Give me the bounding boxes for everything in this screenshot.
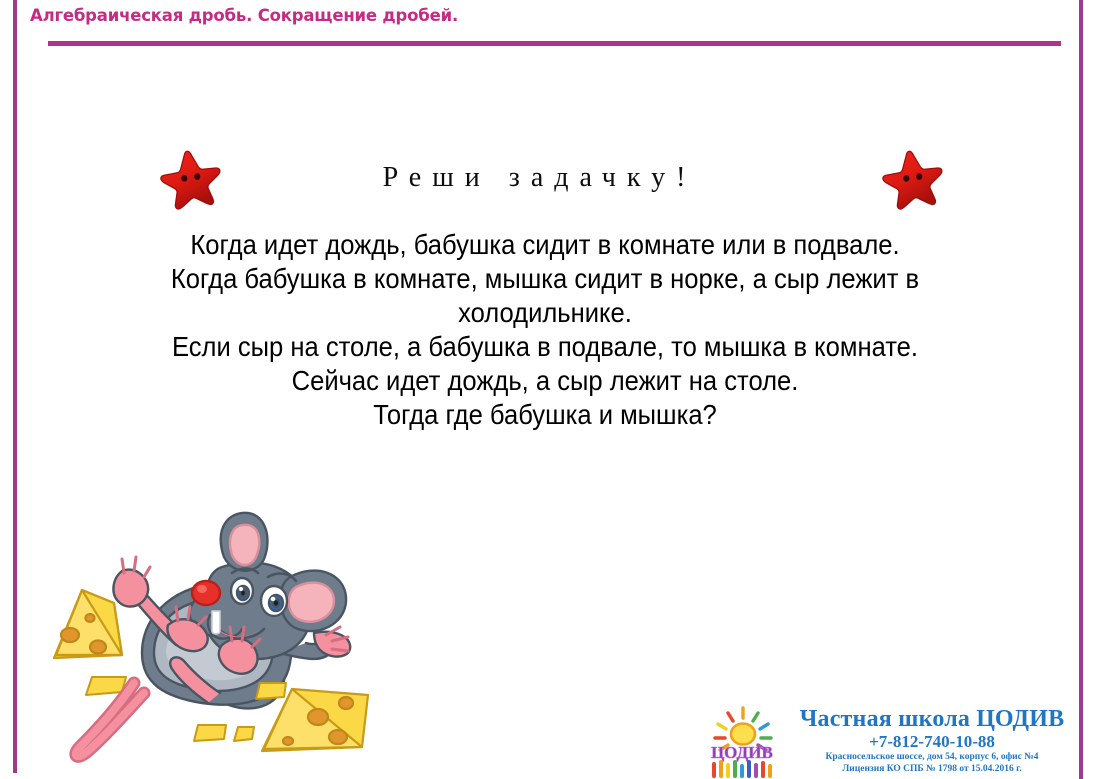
problem-line: Тогда где бабушка и мышка? [94,398,996,432]
school-phone: +7-812-740-10-88 [785,732,1079,751]
school-license: Лицензия КО СПБ № 1798 от 15.04.2016 г. [785,763,1079,775]
school-address: Красносельское шоссе, дом 54, корпус 6, … [785,751,1079,763]
problem-text-block: Когда идет дождь, бабушка сидит в комнат… [94,228,996,432]
codiv-sun-logo-icon: ЦОДИВ [703,704,781,778]
slide-canvas: Алгебраическая дробь. Сокращение дробей. [0,0,1095,779]
school-logo-block: ЦОДИВ Частная школа ЦОДИВ +7-812-740-10-… [703,703,1079,779]
page-title: Алгебраическая дробь. Сокращение дробей. [30,6,458,25]
frame-right-rule [1079,0,1083,779]
problem-line: Когда бабушка в комнате, мышка сидит в н… [94,262,996,330]
title-underline-rule [48,41,1061,46]
school-name: Частная школа ЦОДИВ [785,707,1079,732]
problem-line: Если сыр на столе, а бабушка в подвале, … [94,330,996,364]
school-logo-text: Частная школа ЦОДИВ +7-812-740-10-88 Кра… [781,707,1079,775]
cartoon-mouse-with-cheese-illustration [26,455,386,779]
problem-line: Когда идет дождь, бабушка сидит в комнат… [94,228,996,262]
problem-line: Сейчас идет дождь, а сыр лежит на столе. [94,364,996,398]
svg-text:ЦОДИВ: ЦОДИВ [711,743,773,762]
task-heading: Реши задачку! [0,162,1068,194]
frame-left-rule [13,0,17,773]
